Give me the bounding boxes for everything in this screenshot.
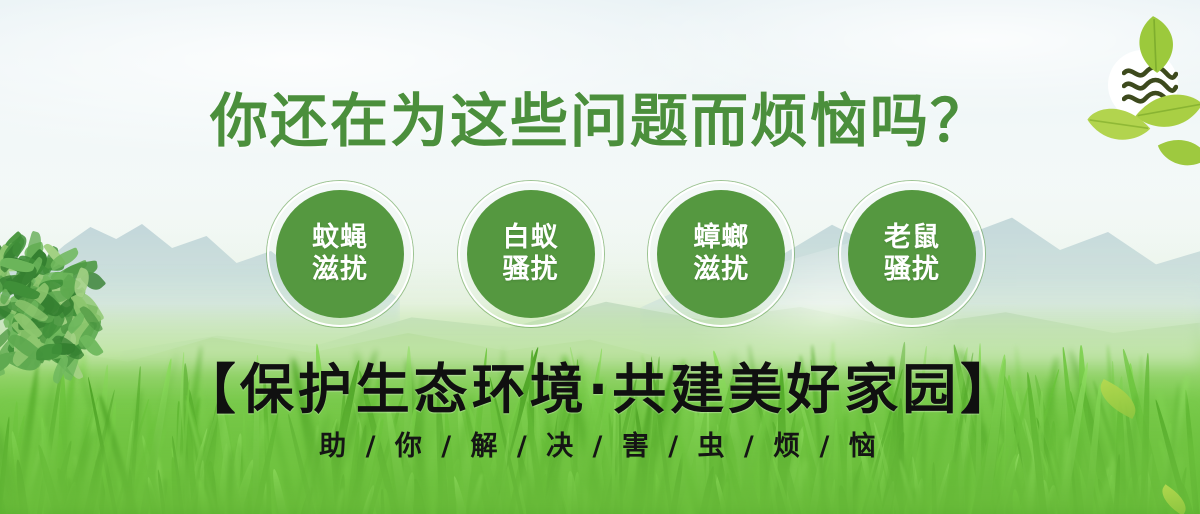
pest-circle-line2: 骚扰: [503, 254, 559, 285]
pest-circle-line1: 白蚁: [503, 222, 559, 253]
pest-circle-label: 老鼠 骚扰: [884, 222, 940, 286]
pest-circle-line1: 老鼠: [884, 222, 940, 253]
pest-circle-line2: 骚扰: [884, 254, 940, 285]
pest-circle-line2: 滋扰: [312, 254, 368, 285]
leaf-icon: [1122, 14, 1184, 76]
sub-slogan: 助 / 你 / 解 / 决 / 害 / 虫 / 烦 / 恼: [0, 424, 1200, 463]
main-slogan: 【保护生态环境·共建美好家园】: [0, 345, 1200, 424]
page-title: 你还在为这些问题而烦恼吗？: [0, 74, 1200, 158]
pest-circle-line1: 蟑螂: [693, 222, 749, 253]
pest-circle-line1: 蚊蝇: [312, 222, 368, 253]
eco-pest-control-banner: 你还在为这些问题而烦恼吗？ 蚊蝇 滋扰 白蚁 骚扰 蟑螂 滋扰 老鼠 骚扰: [0, 0, 1200, 514]
pest-circle-label: 蚊蝇 滋扰: [312, 222, 368, 286]
pest-circle-cockroach[interactable]: 蟑螂 滋扰: [648, 181, 794, 327]
pest-circle-termite[interactable]: 白蚁 骚扰: [458, 181, 604, 327]
pest-circle-row: 蚊蝇 滋扰 白蚁 骚扰 蟑螂 滋扰 老鼠 骚扰: [267, 181, 985, 327]
pest-circle-mosquito-fly[interactable]: 蚊蝇 滋扰: [267, 181, 413, 327]
pest-circle-rodent[interactable]: 老鼠 骚扰: [839, 181, 985, 327]
pest-circle-label: 蟑螂 滋扰: [693, 222, 749, 286]
pest-circle-label: 白蚁 骚扰: [503, 222, 559, 286]
pest-circle-line2: 滋扰: [693, 254, 749, 285]
